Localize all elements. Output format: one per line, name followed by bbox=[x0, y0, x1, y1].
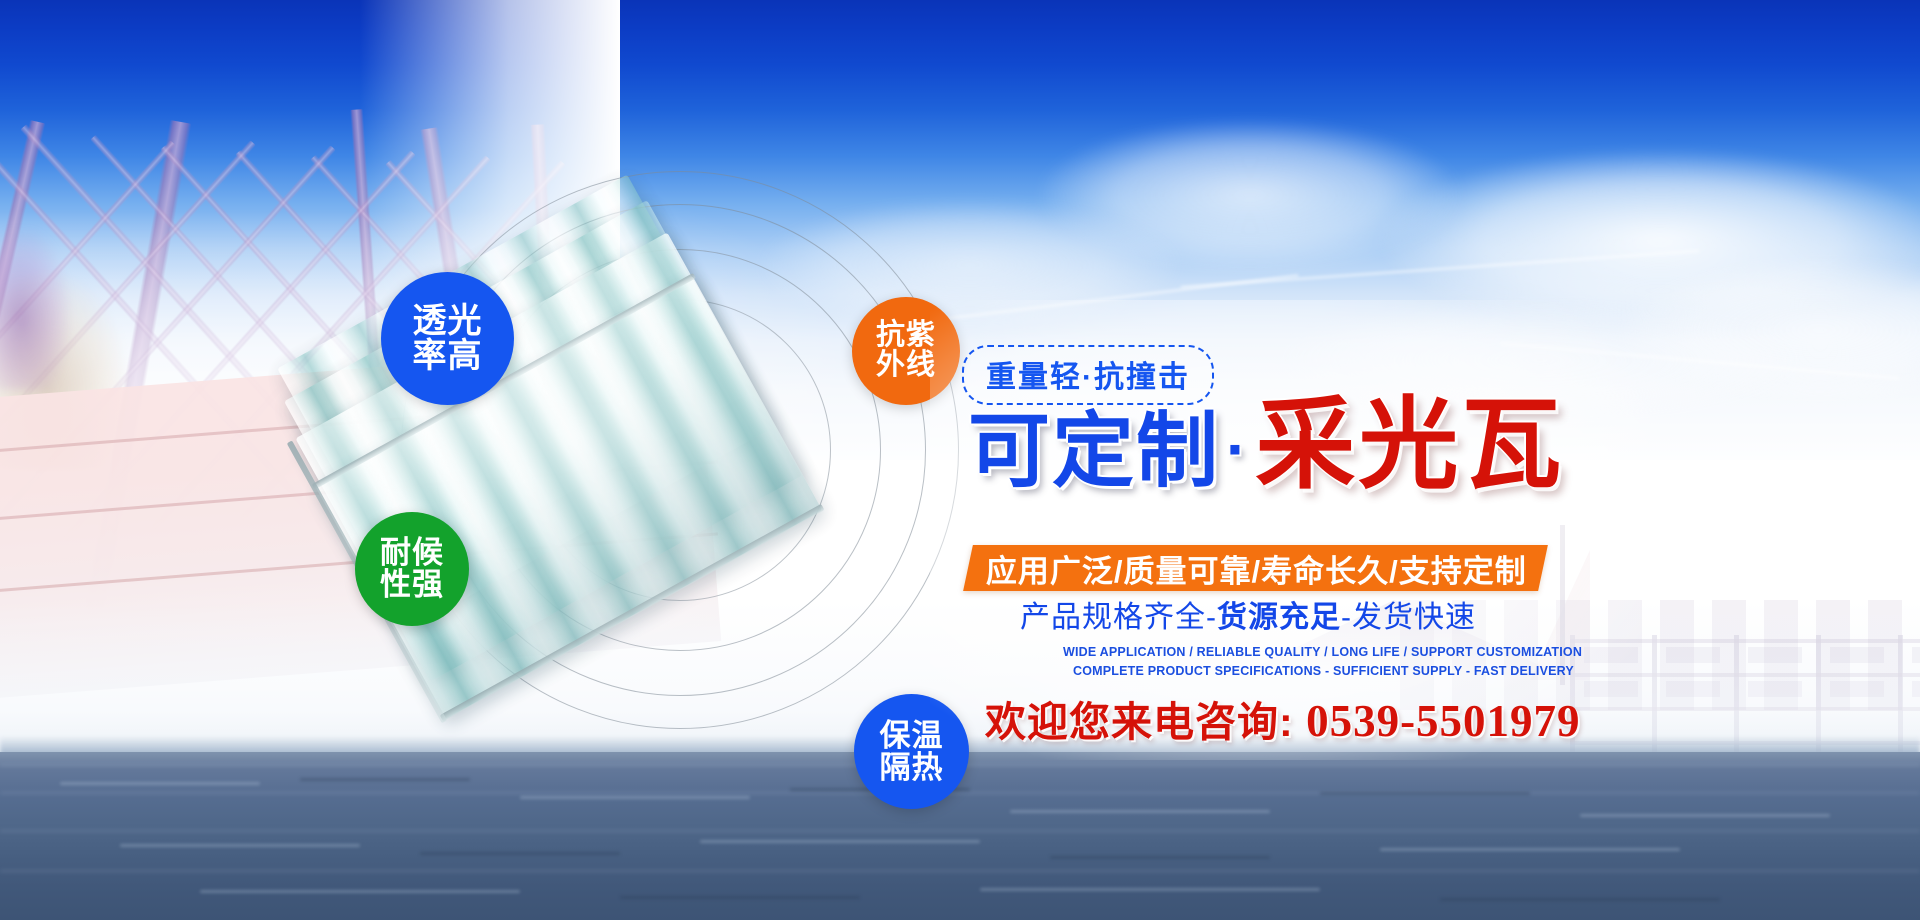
headline-red-text: 采光瓦 bbox=[1255, 389, 1564, 501]
supply-subline: 产品规格齐全-货源充足-发货快速 bbox=[1020, 592, 1476, 636]
badge-line-2: 外线 bbox=[876, 351, 936, 381]
headline-blue-text: 可定制 bbox=[968, 406, 1220, 497]
phone-label: 欢迎您来电咨询: bbox=[985, 699, 1294, 745]
promo-banner: 透光 率高 抗紫 外线 耐候 性强 保温 隔热 重量轻·抗撞击 可定制·采光瓦 … bbox=[0, 0, 1920, 920]
badge-line-1: 透光 bbox=[413, 304, 483, 339]
badge-high-light-transmittance[interactable]: 透光 率高 bbox=[381, 272, 514, 405]
badge-thermal-insulation[interactable]: 保温 隔热 bbox=[854, 694, 969, 809]
badge-line-1: 耐候 bbox=[380, 537, 444, 569]
english-line-1: WIDE APPLICATION / RELIABLE QUALITY / LO… bbox=[1063, 645, 1582, 659]
subline-bold: 货源充足 bbox=[1217, 601, 1341, 634]
foliage bbox=[0, 230, 70, 390]
feature-strip: 应用广泛/质量可靠/寿命长久/支持定制 bbox=[963, 545, 1548, 591]
badge-line-1: 抗紫 bbox=[876, 321, 936, 351]
headline-separator: · bbox=[1220, 413, 1255, 485]
phone-number: 0539-5501979 bbox=[1306, 696, 1581, 746]
contact-phone-line: 欢迎您来电咨询: 0539-5501979 bbox=[985, 688, 1581, 748]
badge-weather-resistant[interactable]: 耐候 性强 bbox=[355, 512, 469, 626]
badge-line-2: 率高 bbox=[413, 339, 483, 374]
subline-part-2: -发货快速 bbox=[1341, 601, 1476, 634]
badge-line-2: 隔热 bbox=[880, 752, 944, 784]
english-line-2: COMPLETE PRODUCT SPECIFICATIONS - SUFFIC… bbox=[1073, 664, 1574, 678]
badge-line-2: 性强 bbox=[380, 569, 444, 601]
headline: 可定制·采光瓦 bbox=[968, 395, 1564, 495]
badge-line-1: 保温 bbox=[880, 720, 944, 752]
badge-uv-resistant[interactable]: 抗紫 外线 bbox=[852, 297, 960, 405]
feature-strip-text: 应用广泛/质量可靠/寿命长久/支持定制 bbox=[986, 546, 1527, 591]
subline-part-1: 产品规格齐全- bbox=[1020, 601, 1217, 634]
